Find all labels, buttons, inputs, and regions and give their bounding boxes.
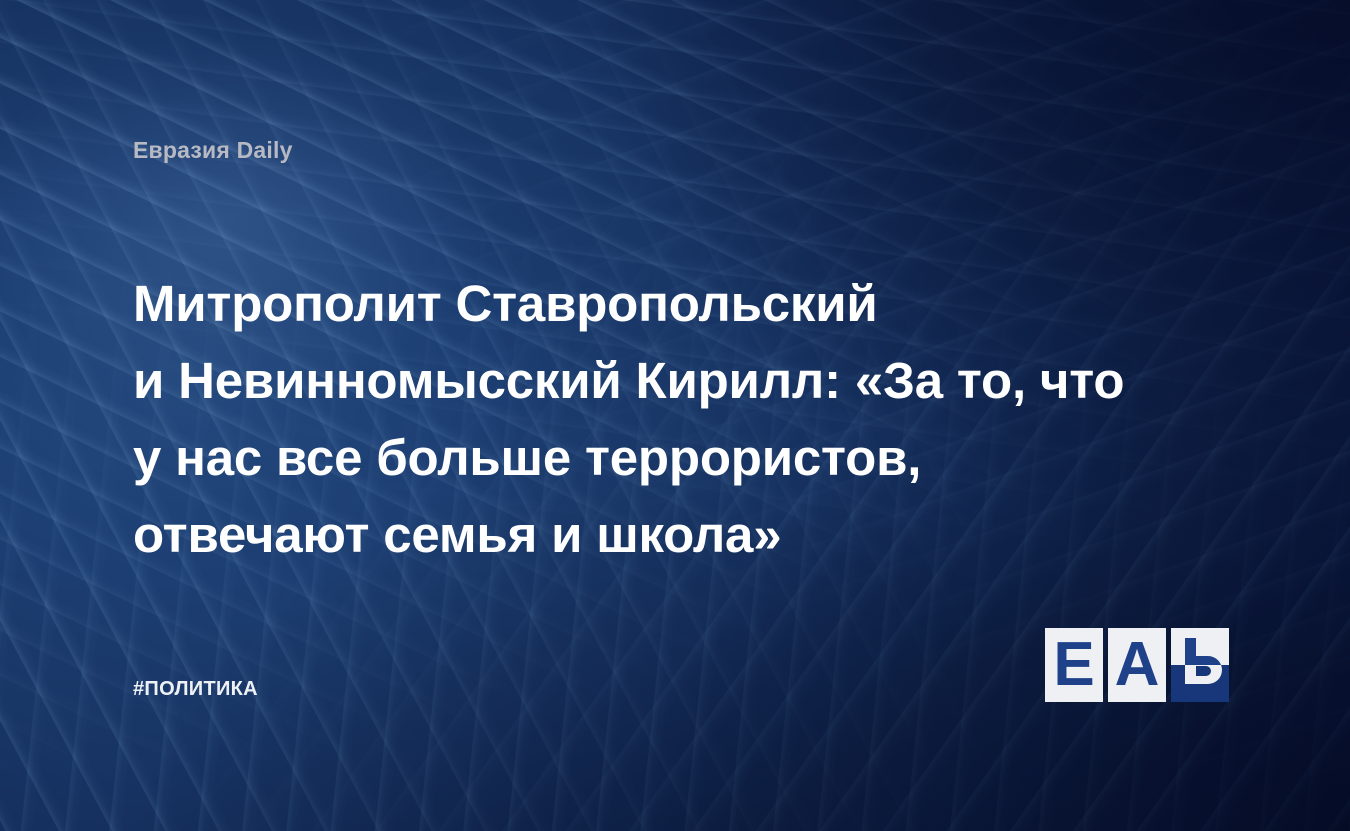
page-title: Митрополит Ставропольский и Невинномысск…: [133, 265, 1203, 573]
logo-tile-e: E: [1045, 628, 1103, 702]
logo-tile-soft-sign-bottom: [1171, 665, 1229, 702]
headline-line-4: отвечают семья и школа»: [133, 496, 1203, 573]
news-card: Евразия Daily Митрополит Ставропольский …: [0, 0, 1350, 831]
headline-line-1: Митрополит Ставропольский: [133, 265, 1203, 342]
logo-letter-e: E: [1045, 628, 1103, 702]
logo-tile-soft-sign: [1171, 628, 1229, 702]
headline-line-2: и Невинномысский Кирилл: «За то, что: [133, 342, 1203, 419]
logo-tile-a: A: [1108, 628, 1166, 702]
logo-tile-soft-sign-top: [1171, 628, 1229, 665]
headline-line-3: у нас все больше террористов,: [133, 419, 1203, 496]
logo-letter-a: A: [1108, 628, 1166, 702]
category-hashtag[interactable]: #ПОЛИТИКА: [133, 678, 258, 701]
brand-wordmark: Евразия Daily: [133, 137, 293, 164]
eadaily-logo: E A: [1045, 628, 1229, 702]
